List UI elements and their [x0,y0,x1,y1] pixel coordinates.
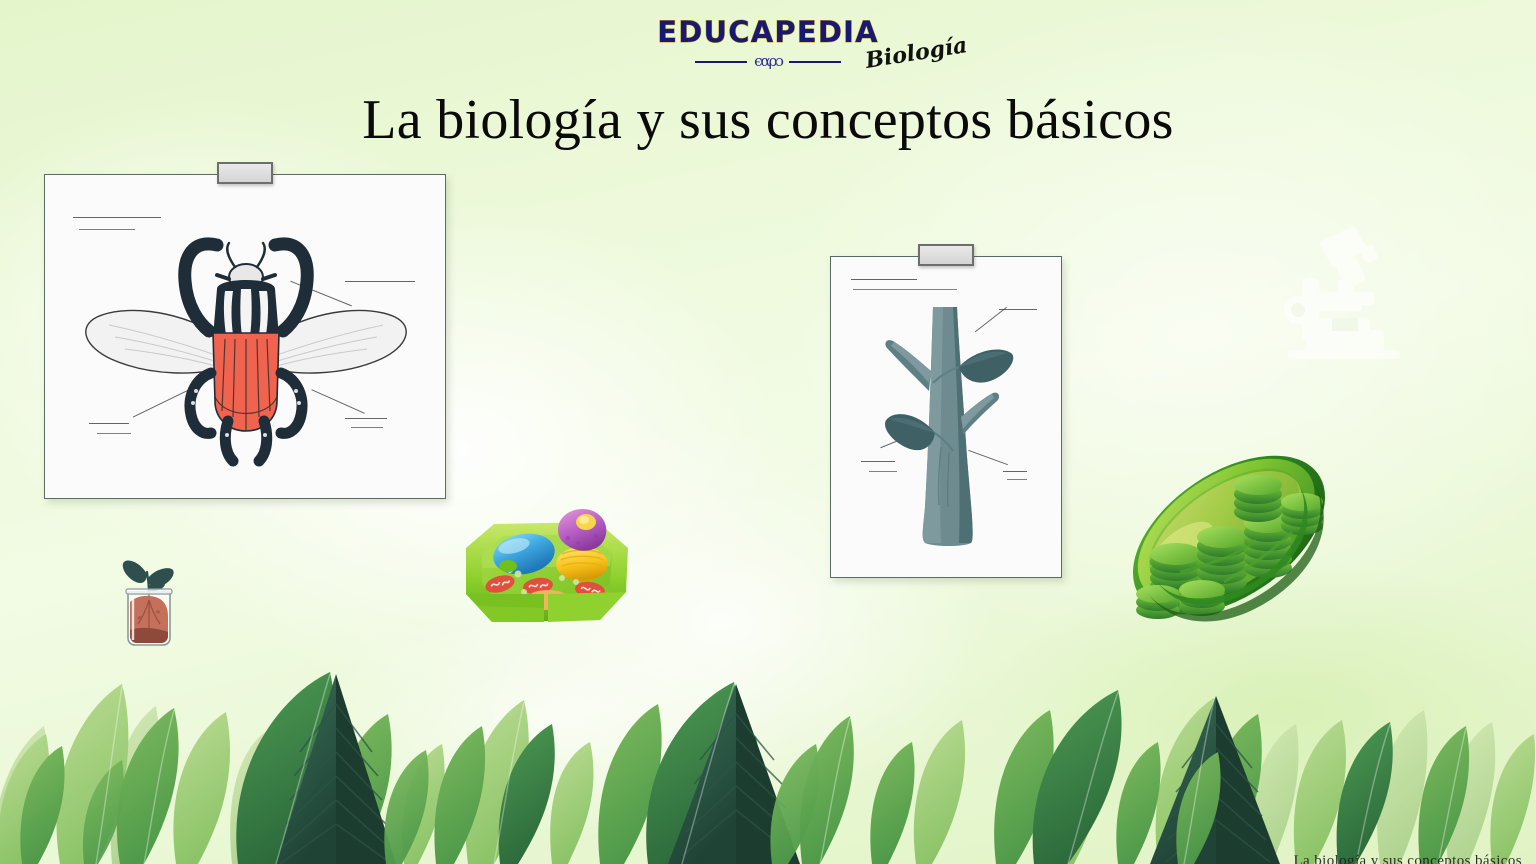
educapedia-logo[interactable]: EDUCAPEDIA єαρɔ Biología [598,18,938,80]
logo-divider-bar-left [695,61,747,63]
logo-main: EDUCAPEDIA єαρɔ Biología [657,18,879,69]
slide-canvas: EDUCAPEDIA єαρɔ Biología La biología y s… [0,0,1536,864]
watercolor-leaf-border [0,634,1536,864]
logo-ornament: єαρɔ [754,54,782,69]
tree-branch-diagram-card[interactable] [830,256,1062,578]
logo-divider-bar-right [789,61,841,63]
bottom-caption-clipped: La biología y sus conceptos básicos [1293,853,1522,864]
annotation-line [851,279,917,280]
goliath-beetle-illustration [65,205,427,473]
microscope-watermark-icon [1262,222,1422,374]
page-title: La biología y sus conceptos básicos [0,88,1536,152]
logo-wordmark: EDUCAPEDIA [657,18,879,47]
beetle-diagram-card[interactable] [44,174,446,499]
card-clip [217,162,273,184]
plant-cell-illustration [458,496,634,644]
tree-branch-illustration [867,297,1027,547]
logo-divider: єαρɔ [657,54,879,69]
logo-subject-script: Biología [864,32,969,74]
card-clip [918,244,974,266]
chloroplast-illustration [1116,422,1342,648]
annotation-line [853,289,957,290]
